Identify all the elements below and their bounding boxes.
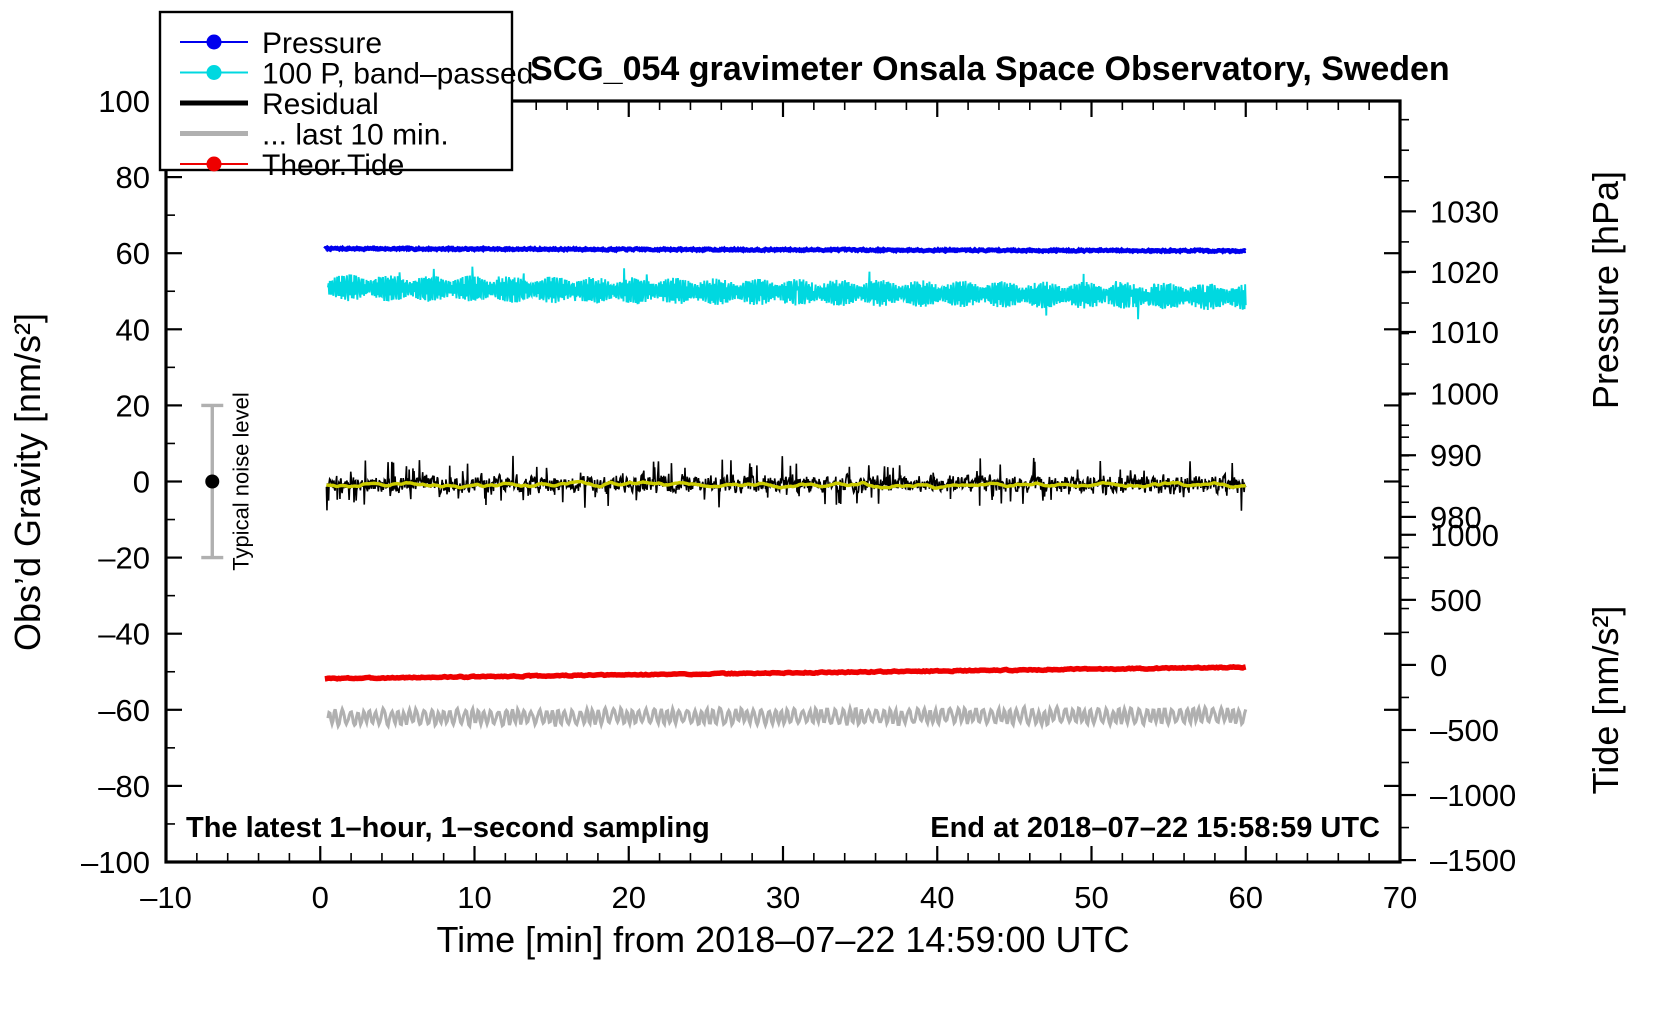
x-tick-label: 30 <box>766 880 800 915</box>
legend-label: Pressure <box>262 27 382 60</box>
legend-label: Residual <box>262 88 379 121</box>
legend-marker-dot <box>207 157 222 172</box>
x-tick-label: 40 <box>920 880 954 915</box>
legend-marker-dot <box>207 65 222 80</box>
y-tick-label: –100 <box>81 845 150 880</box>
legend-label: ... last 10 min. <box>262 119 449 152</box>
right-tick-label: 500 <box>1430 583 1482 618</box>
legend-label: Theor.Tide <box>262 149 404 182</box>
y-axis-left-title: Obs’d Gravity [nm/s²] <box>7 313 48 651</box>
y-axis-pressure-title: Pressure [hPa] <box>1585 171 1626 409</box>
right-tick-label: –500 <box>1430 713 1499 748</box>
gravimeter-chart-figure: –100–80–60–40–20020406080100 Obs’d Gravi… <box>0 0 1660 1020</box>
x-axis-title: Time [min] from 2018–07–22 14:59:00 UTC <box>436 919 1129 960</box>
y-tick-label: 100 <box>98 84 150 119</box>
y-tick-label: 0 <box>133 465 150 500</box>
x-tick-label: 20 <box>612 880 646 915</box>
annotation-bottom-right: End at 2018–07–22 15:58:59 UTC <box>930 812 1380 844</box>
x-tick-label: 60 <box>1229 880 1263 915</box>
y-tick-label: –20 <box>98 541 150 576</box>
legend[interactable]: Pressure100 P, band–passedResidual... la… <box>160 12 533 182</box>
x-tick-label: 10 <box>457 880 491 915</box>
y-tick-label: –60 <box>98 693 150 728</box>
annotation-bottom-left: The latest 1–hour, 1–second sampling <box>186 812 710 844</box>
series-pressure <box>325 248 1246 252</box>
right-tick-label: 1000 <box>1430 377 1499 412</box>
x-tick-label: 50 <box>1074 880 1108 915</box>
x-tick-label: –10 <box>140 880 192 915</box>
y-axis-tide-title: Tide [nm/s²] <box>1585 606 1626 795</box>
right-tick-label: 1000 <box>1430 518 1499 553</box>
legend-marker-dot <box>207 35 222 50</box>
y-tick-label: 60 <box>116 236 150 271</box>
y-tick-label: 20 <box>116 388 150 423</box>
legend-label: 100 P, band–passed <box>262 58 533 91</box>
y-tick-label: –80 <box>98 769 150 804</box>
right-tick-label: 0 <box>1430 648 1447 683</box>
typical-noise-level-label: Typical noise level <box>228 392 253 571</box>
y-tick-label: 80 <box>116 160 150 195</box>
right-tick-label: 1010 <box>1430 315 1499 350</box>
x-tick-label: 0 <box>312 880 329 915</box>
right-tick-label: –1000 <box>1430 778 1516 813</box>
right-tick-label: 990 <box>1430 438 1482 473</box>
right-tick-label: 1030 <box>1430 194 1499 229</box>
x-tick-label: 70 <box>1383 880 1417 915</box>
y-tick-label: 40 <box>116 312 150 347</box>
y-tick-label: –40 <box>98 617 150 652</box>
chart-title: SCG_054 gravimeter Onsala Space Observat… <box>530 50 1450 88</box>
right-tick-label: –1500 <box>1430 843 1516 878</box>
right-tick-label: 1020 <box>1430 255 1499 290</box>
